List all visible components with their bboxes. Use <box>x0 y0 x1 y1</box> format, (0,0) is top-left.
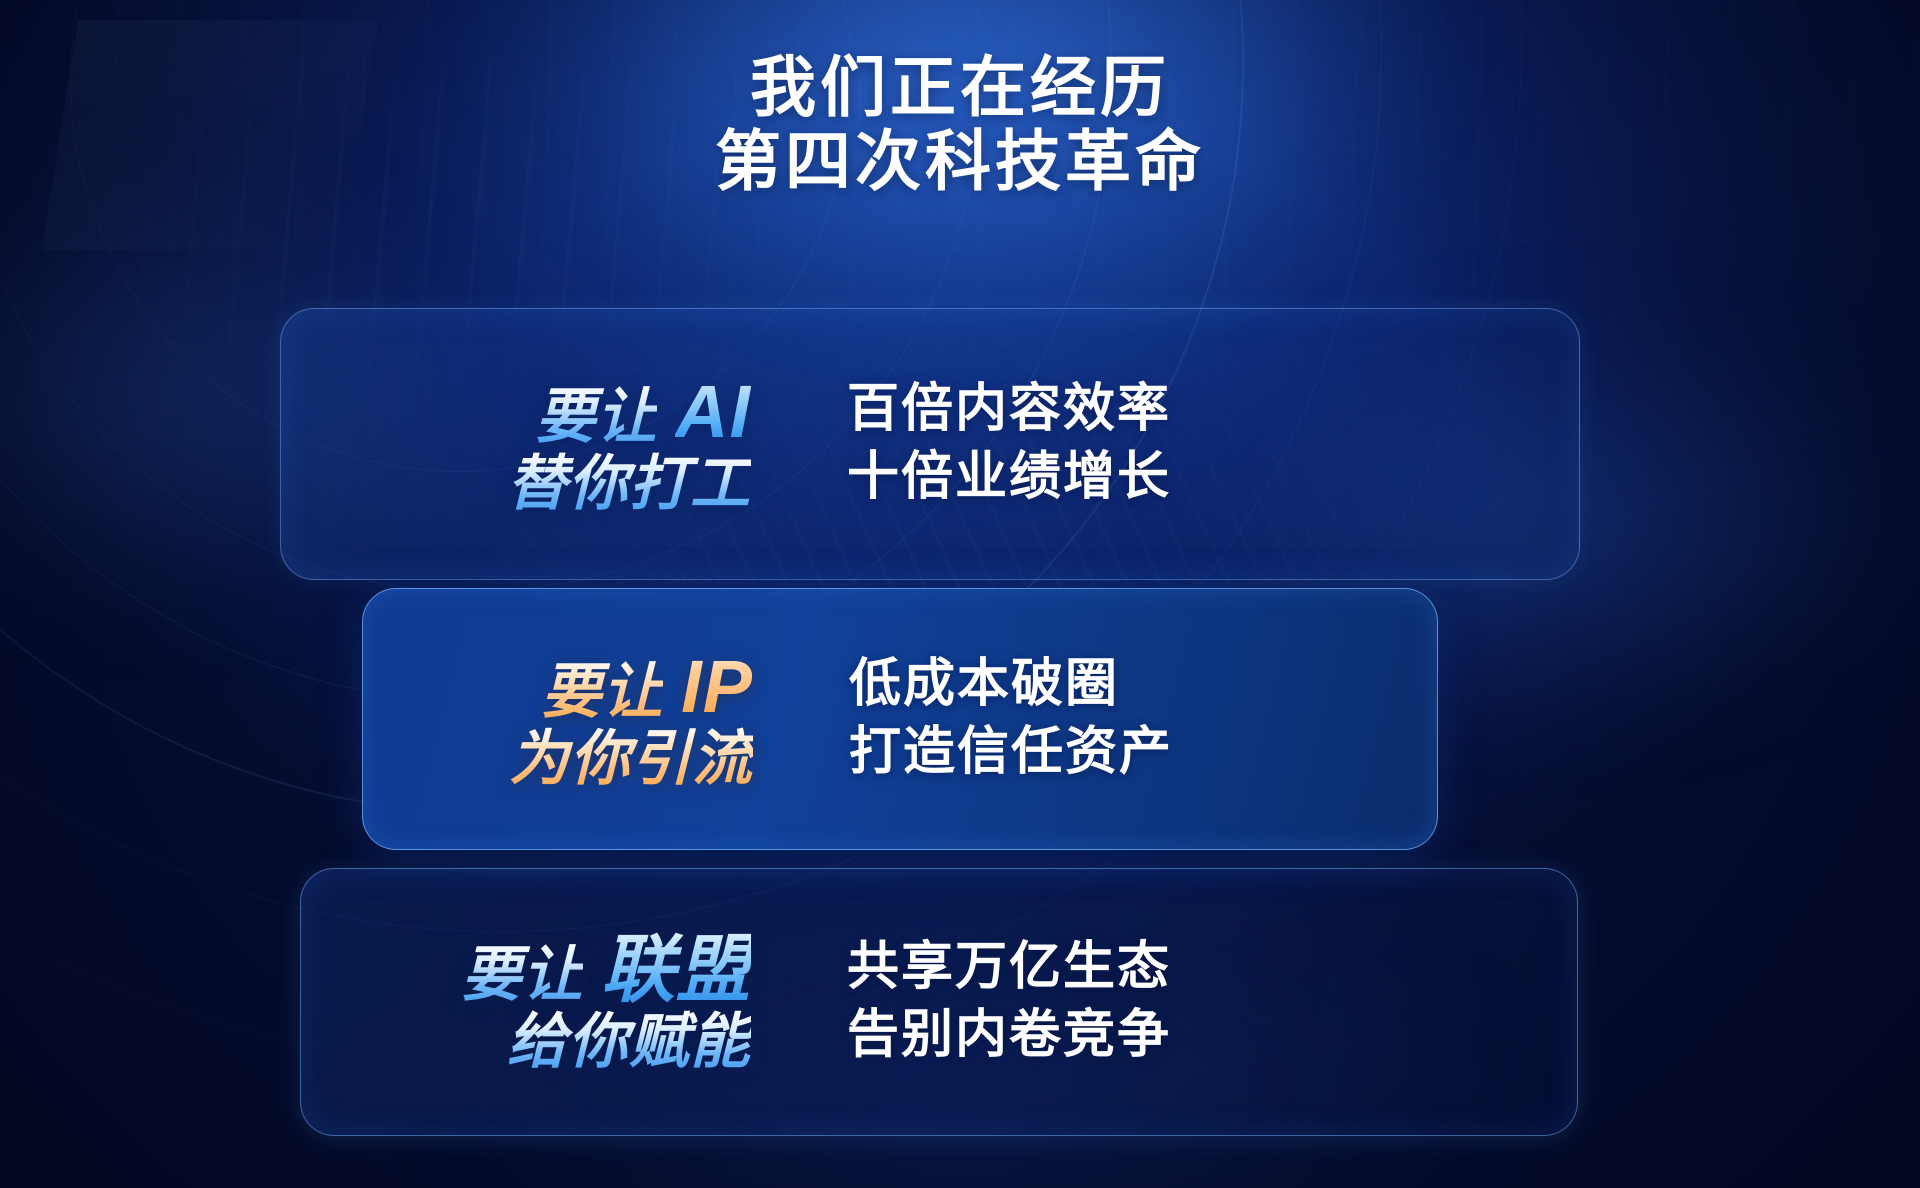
card-alliance-lead: 要让 联盟 给你赋能 <box>401 930 761 1075</box>
card-alliance-desc-line-2: 告别内卷竞争 <box>847 1002 1171 1070</box>
card-alliance-description: 共享万亿生态 告别内卷竞争 <box>847 934 1171 1069</box>
card-ip-lead: 要让 IP 为你引流 <box>403 647 763 792</box>
page-title: 我们正在经历 第四次科技革命 <box>0 52 1920 200</box>
card-ai-desc-line-2: 十倍业绩增长 <box>847 444 1171 512</box>
card-ai-lead-line-2: 替你打工 <box>401 452 751 517</box>
card-ai-lead-line-1: 要让 AI <box>401 372 751 452</box>
card-alliance-lead-prefix: 要让 <box>461 941 583 1008</box>
card-alliance-lead-line-1: 要让 联盟 <box>401 930 751 1010</box>
poster-canvas: 我们正在经历 第四次科技革命 要让 AI 替你打工 百倍内容效率 十倍业绩增长 <box>0 0 1920 1188</box>
card-ai-keyword: AI <box>675 370 751 453</box>
card-alliance-keyword: 联盟 <box>601 928 751 1011</box>
page-title-line-1: 我们正在经历 <box>750 52 1170 125</box>
page-title-line-2: 第四次科技革命 <box>0 126 1920 200</box>
card-ip-desc-line-1: 低成本破圈 <box>849 651 1173 719</box>
card-alliance[interactable]: 要让 联盟 给你赋能 共享万亿生态 告别内卷竞争 <box>300 868 1578 1136</box>
card-ip-desc-line-2: 打造信任资产 <box>849 719 1173 787</box>
card-ip[interactable]: 要让 IP 为你引流 低成本破圈 打造信任资产 <box>362 588 1438 850</box>
card-alliance-desc-line-1: 共享万亿生态 <box>847 934 1171 1002</box>
card-ai-lead-prefix: 要让 <box>535 383 657 450</box>
card-ai-description: 百倍内容效率 十倍业绩增长 <box>847 376 1171 511</box>
card-ai-lead: 要让 AI 替你打工 <box>401 372 761 517</box>
card-ip-lead-line-2: 为你引流 <box>403 727 753 792</box>
card-alliance-lead-line-2: 给你赋能 <box>401 1010 751 1075</box>
card-ai-desc-line-1: 百倍内容效率 <box>847 376 1171 444</box>
card-ip-keyword: IP <box>681 645 753 728</box>
card-ip-lead-line-1: 要让 IP <box>403 647 753 727</box>
card-ai[interactable]: 要让 AI 替你打工 百倍内容效率 十倍业绩增长 <box>280 308 1580 580</box>
card-ip-description: 低成本破圈 打造信任资产 <box>849 651 1173 786</box>
card-ip-lead-prefix: 要让 <box>541 658 663 725</box>
